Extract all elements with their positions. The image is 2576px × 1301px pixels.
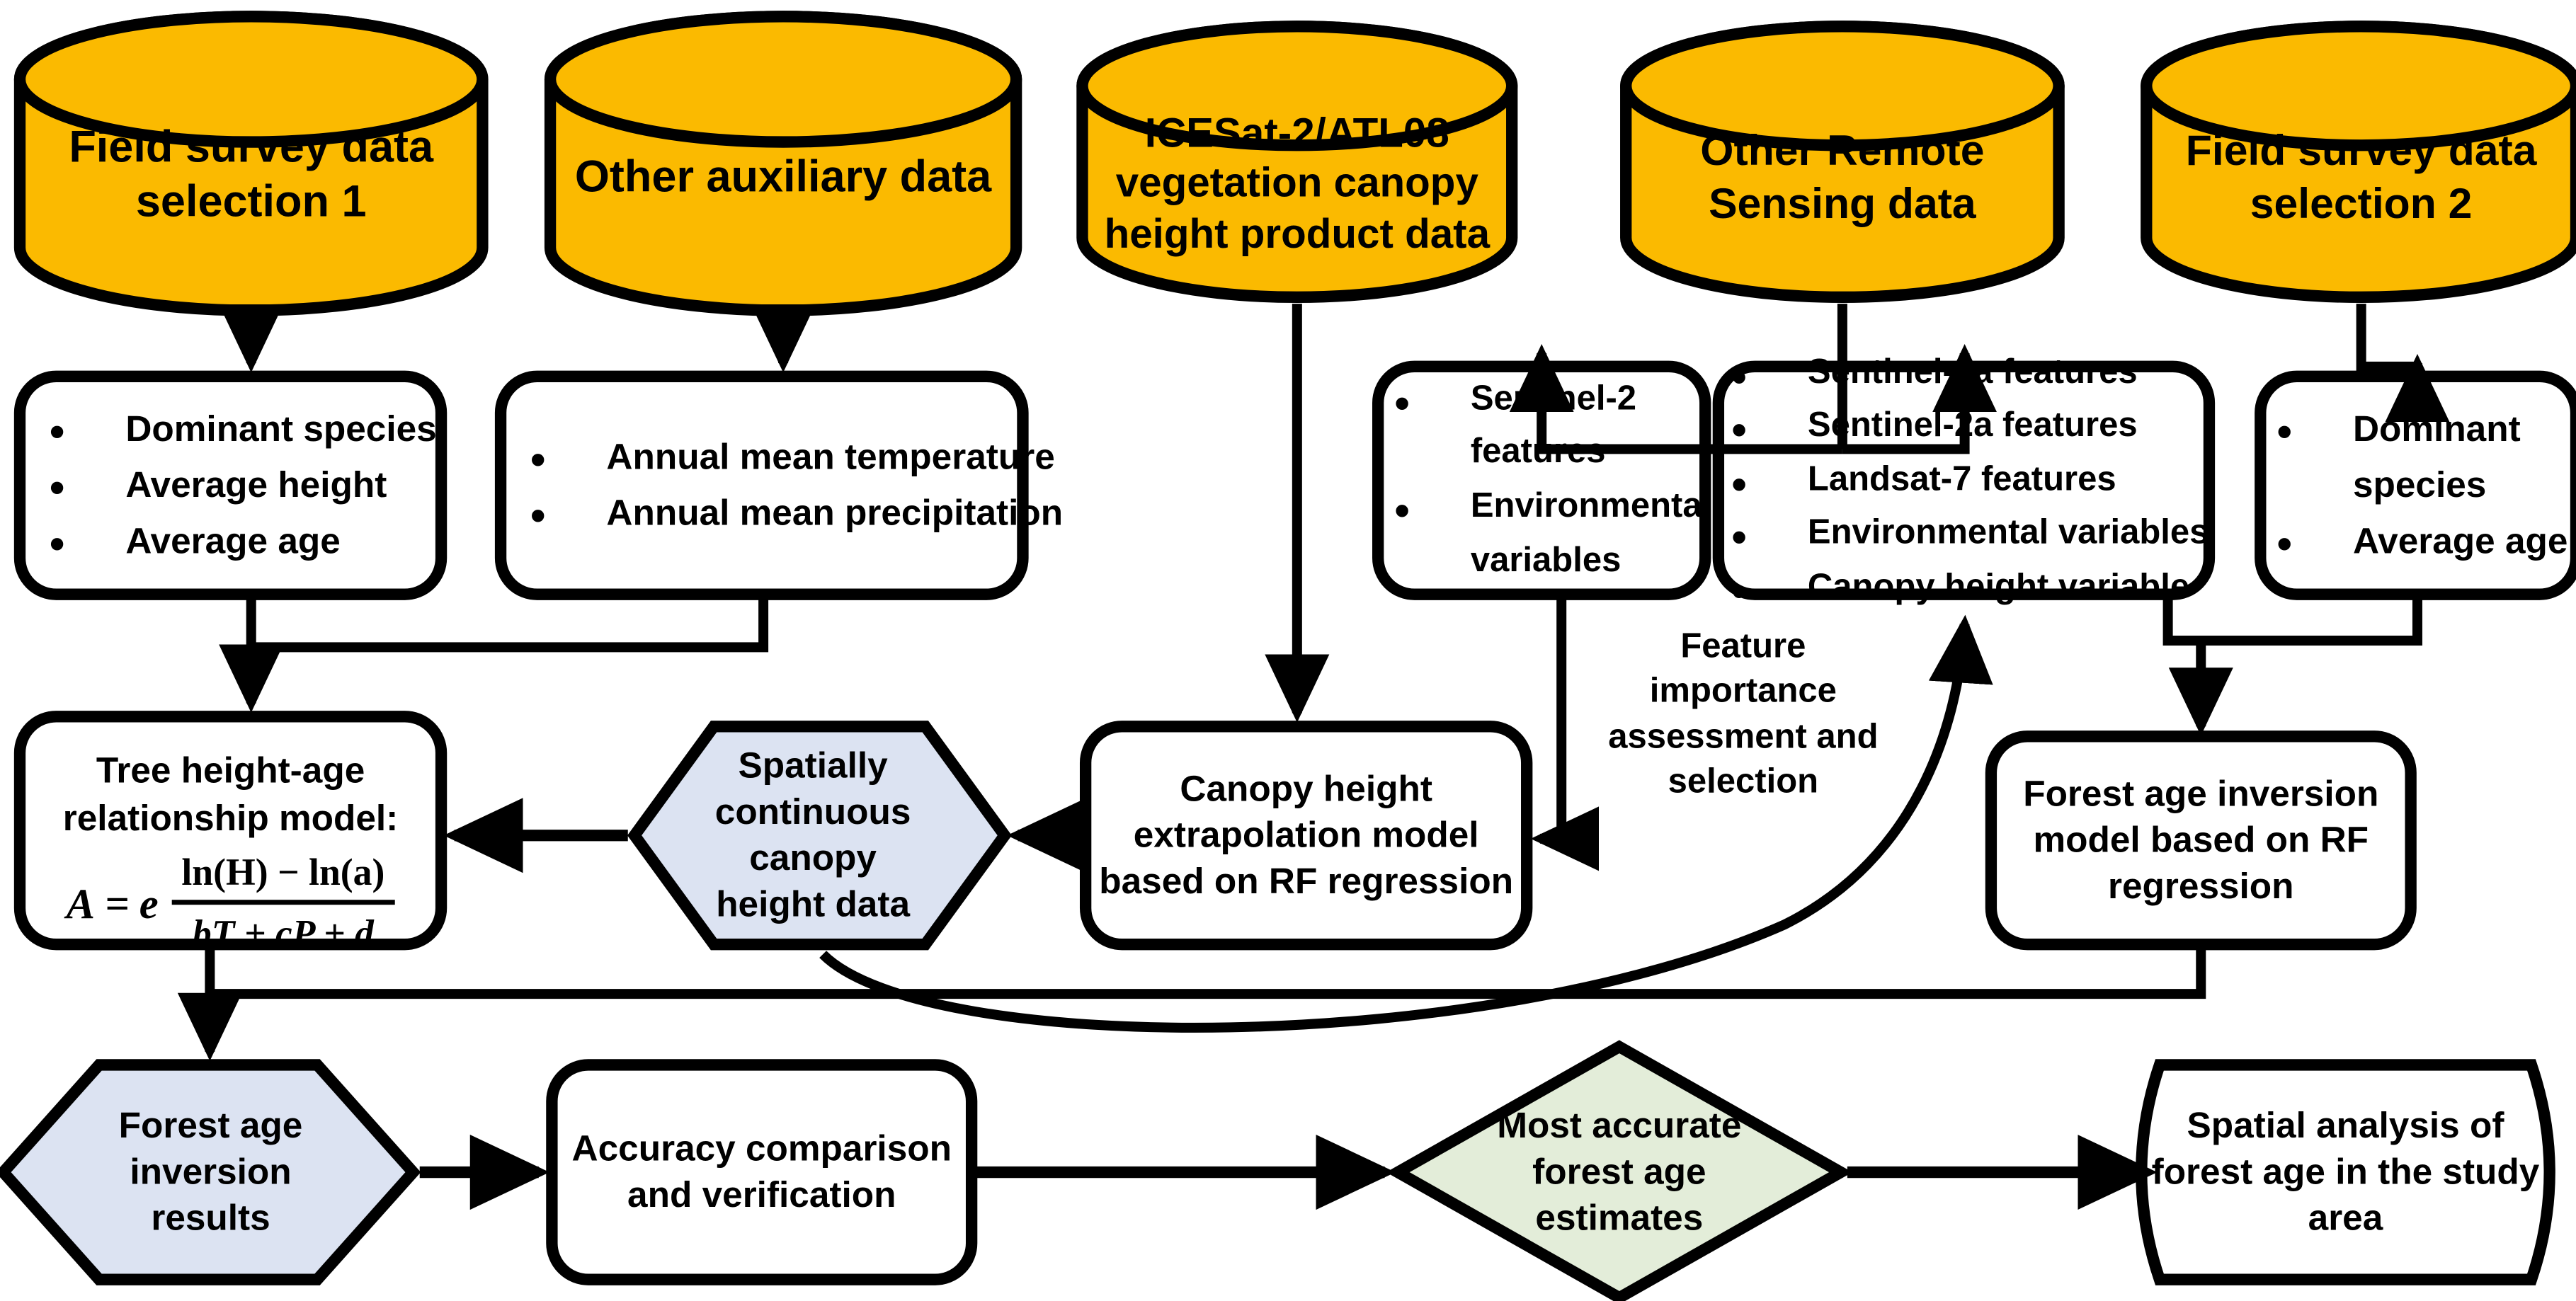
list-item: Average age — [2353, 514, 2576, 571]
list-aux-attrs: Annual mean temperature Annual mean prec… — [501, 377, 1022, 595]
formula-numerator: ln(H) − ln(a) — [171, 848, 394, 905]
label-field-survey-2: Field survey data selection 2 — [2146, 99, 2576, 256]
edge-label-feature-importance: Feature importance assessment and select… — [1578, 624, 1909, 806]
list-item: Average age — [125, 514, 441, 571]
node-forest-age-inversion-results: Forest age inversion results — [50, 1065, 372, 1279]
list-item-cont: variables — [1471, 534, 1711, 588]
edge-auxattrs-to-treemodel — [251, 597, 763, 647]
list-field1-attrs: Dominant species Average height Average … — [20, 377, 441, 595]
node-spatially-continuous-canopy-height: Spatially continuous canopy height data — [648, 726, 979, 944]
node-forest-age-inversion-model: Forest age inversion model based on RF r… — [1991, 736, 2411, 944]
node-spatial-analysis: Spatial analysis of forest age in the st… — [2151, 1065, 2539, 1279]
node-accuracy-comparison: Accuracy comparison and verification — [552, 1065, 971, 1279]
formula-base: e — [139, 876, 159, 932]
formula-lhs: A — [67, 876, 95, 932]
list-field2-attrs: Dominant species Average age — [2260, 377, 2576, 595]
edge-forestmodel-to-forestage — [210, 948, 2201, 994]
list-s2-attrs: Sentinel-2 features Environmental variab… — [1378, 367, 1705, 595]
label-other-auxiliary-data: Other auxiliary data — [550, 103, 1016, 251]
list-item: Environmental — [1471, 481, 1711, 534]
list-item: Sentinel-2 — [1471, 373, 1711, 427]
label-icesat2-atl08: ICESat-2/ATL08 vegetation canopy height … — [1052, 89, 1541, 279]
list-item: Dominant — [2353, 401, 2576, 457]
list-rs-attrs: Sentinel-1a features Sentinel-2a feature… — [1719, 367, 2209, 595]
edge-s2attrs-to-canopymodel — [1540, 597, 1561, 839]
label-field-survey-1: Field survey data selection 1 — [20, 93, 482, 258]
node-tree-height-age-model: Tree height-age relationship model: A = … — [20, 716, 441, 944]
edge-field2attrs-to-forestmodel — [2201, 597, 2417, 726]
list-item: Canopy height variable — [1808, 561, 2209, 615]
flowchart-canvas: Field survey data selection 1 Other auxi… — [0, 0, 2576, 1301]
tree-model-title: Tree height-age relationship model: — [63, 750, 399, 838]
list-item-cont: species — [2353, 457, 2576, 514]
list-item: Dominant species — [125, 401, 441, 457]
list-item: Annual mean temperature — [606, 429, 1063, 486]
edge-field2-to-attrs — [2361, 304, 2417, 367]
formula-denominator: bT + cP + d — [183, 905, 384, 959]
formula-equals: = — [105, 876, 130, 932]
list-item: Annual mean precipitation — [606, 486, 1063, 542]
list-item: Environmental variables — [1808, 508, 2209, 561]
list-item-cont: features — [1471, 427, 1711, 481]
list-item: Sentinel-1a features — [1808, 346, 2209, 400]
list-item: Sentinel-2a features — [1808, 400, 2209, 454]
node-canopy-height-extrapolation-model: Canopy height extrapolation model based … — [1085, 726, 1527, 944]
node-most-accurate-forest-age-estimates: Most accurate forest age estimates — [1454, 1065, 1785, 1279]
list-item: Average height — [125, 457, 441, 514]
tree-model-formula: A = e ln(H) − ln(a) bT + cP + d — [67, 848, 395, 958]
list-item: Landsat-7 features — [1808, 454, 2209, 508]
label-other-remote-sensing: Other Remote Sensing data — [1626, 99, 2058, 256]
